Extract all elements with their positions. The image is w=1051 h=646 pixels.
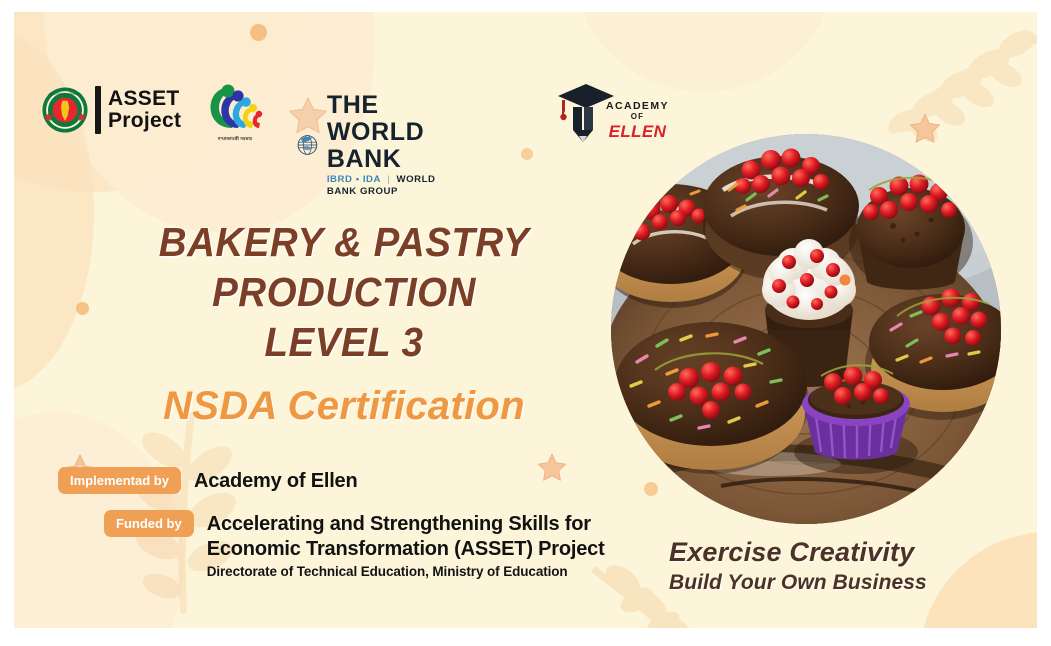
bakery-pastry-photo xyxy=(611,134,1001,524)
dte-caption: গণপ্রজাতন্ত্রী সরকার xyxy=(202,136,268,141)
svg-text:\u09ac\u09be\u0982\u09b2\u09be: \u09ac\u09be\u0982\u09b2\u09be\u09a6\u09… xyxy=(42,92,88,96)
course-title-line-1: BAKERY & PASTRY PRODUCTION xyxy=(62,217,626,317)
logo-divider-bar xyxy=(95,86,101,134)
world-bank-ibrd: IBRD • IDA xyxy=(327,174,381,185)
world-bank-logo: THE WORLD BANK IBRD • IDA | WORLD BANK G… xyxy=(297,92,445,198)
credit-row-implemented: Implementad by Academy of Ellen xyxy=(58,467,638,494)
background-blob-bottom-right xyxy=(919,532,1037,628)
dte-logo: গণপ্রজাতন্ত্রী সরকার xyxy=(202,82,268,141)
funded-by-department: Directorate of Technical Education, Mini… xyxy=(207,563,638,580)
asset-project-label: ASSET Project xyxy=(108,88,181,132)
world-bank-divider: | xyxy=(387,174,390,185)
bangladesh-government-emblem: \u09ac\u09be\u0982\u09b2\u09be\u09a6\u09… xyxy=(42,87,88,133)
course-title-line-2: LEVEL 3 xyxy=(62,317,626,367)
star-cookie-icon xyxy=(909,112,941,144)
funded-by-body: Accelerating and Strengthening Skills fo… xyxy=(207,510,638,580)
world-bank-text: THE WORLD BANK IBRD • IDA | WORLD BANK G… xyxy=(327,92,446,198)
ellen-of-label: OF xyxy=(606,112,669,122)
funded-by-badge: Funded by xyxy=(104,510,194,537)
implemented-by-badge: Implementad by xyxy=(58,467,181,494)
certification-subtitle: NSDA Certification xyxy=(44,383,644,429)
ellen-name-label: ELLEN xyxy=(606,122,669,141)
promotional-banner: \u09ac\u09be\u0982\u09b2\u09be\u09a6\u09… xyxy=(14,12,1037,628)
leaf-spray-icon xyxy=(869,20,1037,150)
academy-of-ellen-text: ACADEMY OF ELLEN xyxy=(606,100,669,141)
credit-row-funded: Funded by Accelerating and Strengthening… xyxy=(58,510,638,580)
asset-line-2: Project xyxy=(108,110,181,132)
implemented-by-body: Academy of Ellen xyxy=(194,467,358,494)
funded-by-value: Accelerating and Strengthening Skills fo… xyxy=(207,512,638,562)
asset-project-logo: \u09ac\u09be\u0982\u09b2\u09be\u09a6\u09… xyxy=(42,86,181,134)
headline-block: BAKERY & PASTRY PRODUCTION LEVEL 3 NSDA … xyxy=(44,217,644,429)
decor-dot xyxy=(644,482,658,496)
implemented-by-value: Academy of Ellen xyxy=(194,469,358,494)
world-bank-subtitle: IBRD • IDA | WORLD BANK GROUP xyxy=(327,174,446,198)
ellen-academy-label: ACADEMY xyxy=(606,100,669,112)
world-bank-name: THE WORLD BANK xyxy=(327,92,446,173)
pastry-bottom-left xyxy=(613,322,809,474)
tagline-line-2: Build Your Own Business xyxy=(669,569,927,596)
dte-emblem-icon xyxy=(202,82,268,130)
pastry-illustration xyxy=(611,134,1001,524)
academy-of-ellen-logo: ACADEMY OF ELLEN xyxy=(554,80,618,149)
decor-dot xyxy=(521,148,533,160)
credits-block: Implementad by Academy of Ellen Funded b… xyxy=(58,467,638,596)
decor-dot xyxy=(250,24,267,41)
tagline-block: Exercise Creativity Build Your Own Busin… xyxy=(669,536,927,596)
asset-line-1: ASSET xyxy=(108,88,181,110)
tagline-line-1: Exercise Creativity xyxy=(669,536,927,569)
globe-icon xyxy=(297,124,318,166)
